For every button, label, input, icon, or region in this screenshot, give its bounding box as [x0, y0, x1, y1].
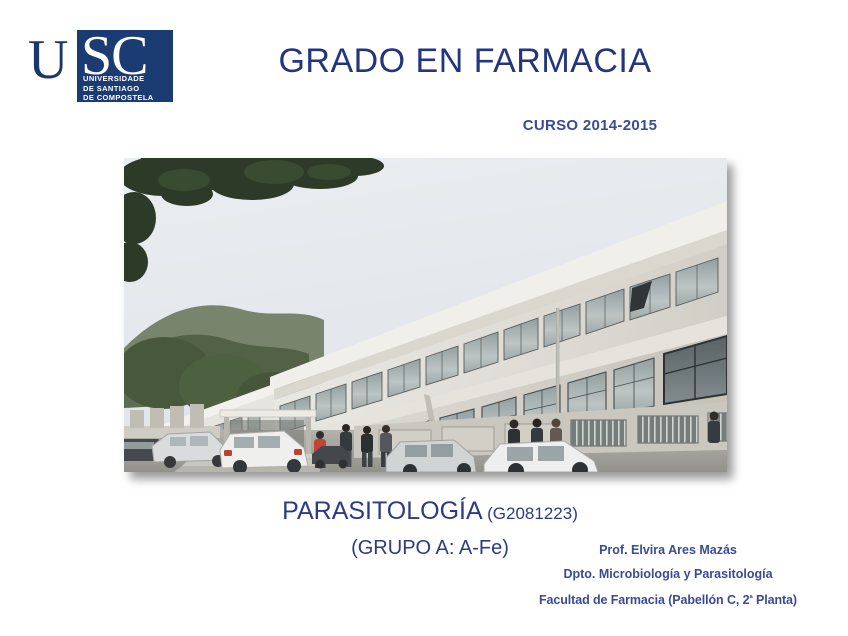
professor-location-prefix: Facultad de Farmacia (Pabellón C, 2 [539, 593, 749, 607]
subject-name: PARASITOLOGÍA [282, 497, 483, 525]
professor-info: Prof. Elvira Ares Mazás Dpto. Microbiolo… [498, 538, 838, 612]
building-photo-graphic [124, 158, 727, 472]
logo-name-line-2: DE SANTIAGO [83, 84, 154, 94]
logo-name-line-3: DE COMPOSTELA [83, 93, 154, 103]
logo-name-line-1: UNIVERSIDADE [83, 74, 154, 84]
subject-code: (G2081223) [487, 504, 578, 523]
usc-logo: U SC UNIVERSIDADE DE SANTIAGO DE COMPOST… [28, 30, 173, 102]
logo-letter-u: U [28, 32, 67, 88]
professor-department: Dpto. Microbiología y Parasitología [498, 562, 838, 586]
page-title: GRADO EN FARMACIA [230, 42, 700, 81]
professor-location: Facultad de Farmacia (Pabellón C, 2ª Pla… [498, 586, 838, 612]
building-photo [124, 158, 727, 472]
course-year-label: CURSO 2014-2015 [440, 117, 740, 134]
professor-location-suffix: Planta) [753, 593, 797, 607]
subject-title: PARASITOLOGÍA (G2081223) [180, 497, 680, 526]
logo-navy-square: SC UNIVERSIDADE DE SANTIAGO DE COMPOSTEL… [77, 30, 173, 102]
logo-university-name: UNIVERSIDADE DE SANTIAGO DE COMPOSTELA [83, 74, 154, 103]
professor-name: Prof. Elvira Ares Mazás [498, 538, 838, 562]
